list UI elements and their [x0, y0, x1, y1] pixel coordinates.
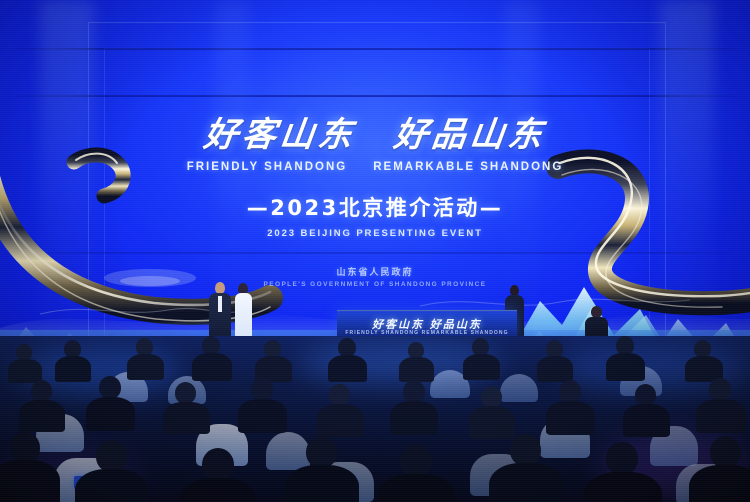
led-title-block: 好客山东 好品山东 FRIENDLY SHANDONG REMARKABLE S… [0, 118, 750, 239]
led-seam-line [0, 252, 750, 254]
organizer-en: PEOPLE'S GOVERNMENT OF SHANDONG PROVINCE [0, 281, 750, 288]
subtitle-cn: —2023北京推介活动— [0, 192, 750, 222]
event-stage-photo: 好客山东 好品山东 FRIENDLY SHANDONG REMARKABLE S… [0, 0, 750, 502]
chair-cover [500, 374, 538, 402]
subtitle-en: 2023 BEIJING PRESENTING EVENT [0, 228, 750, 239]
led-seam-line [0, 48, 750, 50]
audience-area [0, 336, 750, 502]
led-seam-line [0, 95, 750, 97]
organizer-block: 山东省人民政府 PEOPLE'S GOVERNMENT OF SHANDONG … [0, 265, 750, 288]
title-en-remarkable-shandong: REMARKABLE SHANDONG [373, 161, 563, 173]
title-cn-remarkable-shandong: 好品山东 [392, 118, 548, 152]
english-title-row: FRIENDLY SHANDONG REMARKABLE SHANDONG [0, 161, 750, 173]
title-cn-friendly-shandong: 好客山东 [202, 118, 358, 152]
title-en-friendly-shandong: FRIENDLY SHANDONG [187, 161, 348, 173]
chair-cover [266, 432, 310, 470]
chinese-title-row: 好客山东 好品山东 [0, 118, 750, 152]
organizer-cn: 山东省人民政府 [0, 265, 750, 278]
